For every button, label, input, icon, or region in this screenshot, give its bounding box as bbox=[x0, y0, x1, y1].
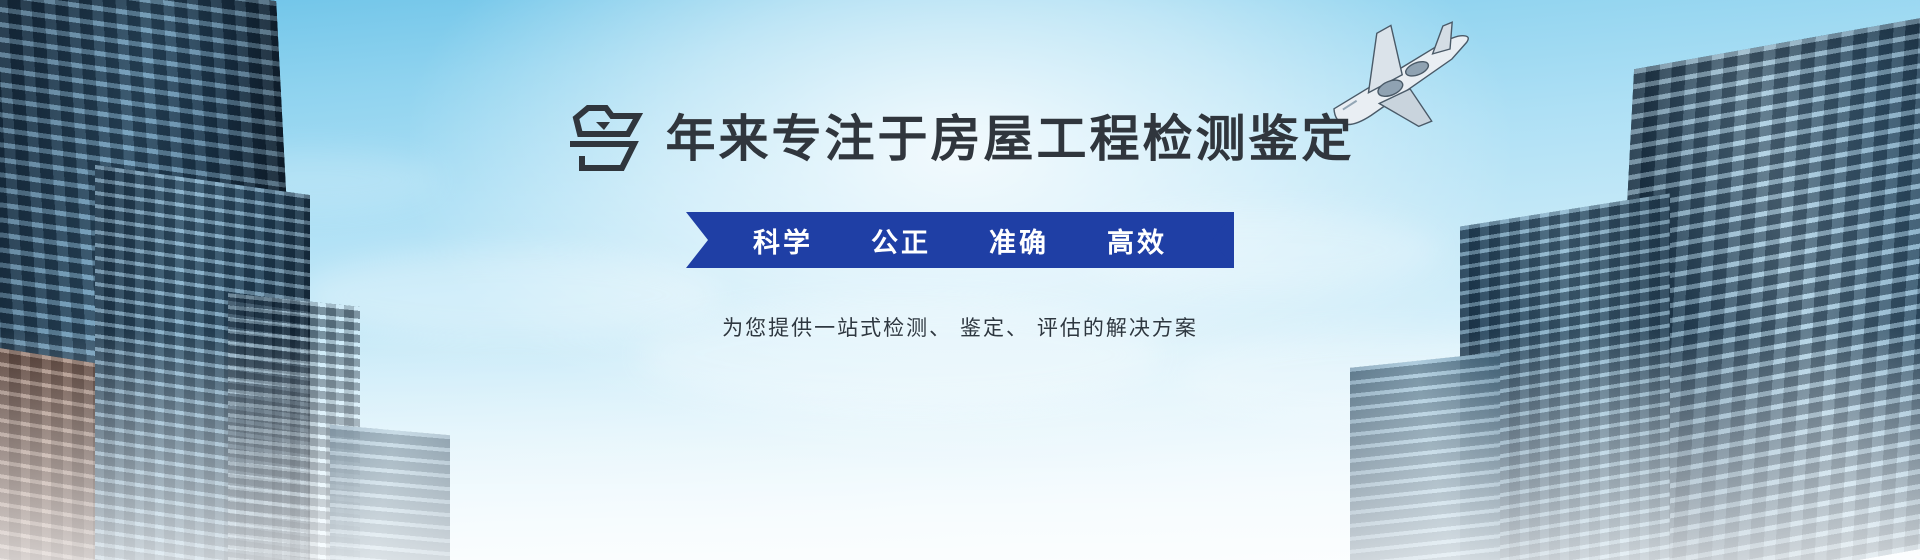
keyword-item: 准确 bbox=[989, 221, 1049, 260]
subtitle-text: 为您提供一站式检测、 鉴定、 评估的解决方案 bbox=[722, 312, 1198, 342]
headline: 年来专注于房屋工程检测鉴定 bbox=[566, 104, 1355, 174]
headline-text: 年来专注于房屋工程检测鉴定 bbox=[666, 114, 1355, 164]
keyword-ribbon: 科学 公正 准确 高效 bbox=[686, 212, 1234, 268]
keyword-item: 高效 bbox=[1107, 221, 1167, 260]
keyword-item: 科学 bbox=[753, 221, 813, 260]
banner-content: 年来专注于房屋工程检测鉴定 科学 公正 准确 高效 为您提供一站式检测、 鉴定、… bbox=[0, 0, 1920, 560]
keyword-ribbon-inner: 科学 公正 准确 高效 bbox=[709, 221, 1211, 260]
keyword-item: 公正 bbox=[871, 221, 931, 260]
duo-logo-icon bbox=[566, 104, 658, 174]
hero-banner: 年来专注于房屋工程检测鉴定 科学 公正 准确 高效 为您提供一站式检测、 鉴定、… bbox=[0, 0, 1920, 560]
